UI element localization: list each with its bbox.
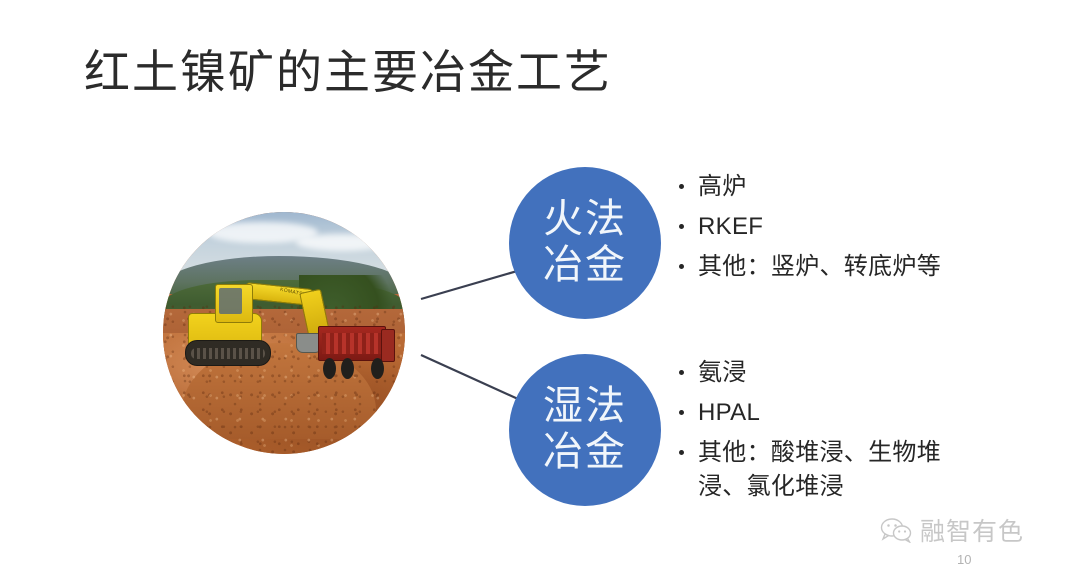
list-item: HPAL <box>676 396 976 430</box>
node-label-line2: 冶金 <box>543 430 627 476</box>
dump-truck-icon <box>318 326 395 379</box>
truck-bed <box>318 326 387 361</box>
page-number: 10 <box>957 552 971 567</box>
truck-wheel <box>341 358 354 379</box>
mining-photo: KOMATSU <box>163 212 405 454</box>
watermark: 融智有色 <box>880 512 1024 548</box>
node-circle-hydrometallurgy[interactable]: 湿法 冶金 <box>509 354 661 506</box>
connector-line-hydro <box>421 355 518 399</box>
list-item: 氨浸 <box>676 356 976 390</box>
watermark-text: 融智有色 <box>920 512 1024 548</box>
bullet-list-hydrometallurgy: 氨浸 HPAL 其他：酸堆浸、生物堆浸、氯化堆浸 <box>676 356 976 510</box>
excavator-brand: KOMATSU <box>280 287 300 292</box>
truck-wheel <box>371 358 384 379</box>
truck-wheel <box>323 358 336 379</box>
node-label-line1: 湿法 <box>543 384 627 430</box>
node-circle-pyrometallurgy[interactable]: 火法 冶金 <box>509 167 661 319</box>
excavator-icon: KOMATSU <box>185 280 335 372</box>
bullet-list-pyrometallurgy: 高炉 RKEF 其他：竖炉、转底炉等 <box>676 170 966 290</box>
slide-canvas: 红土镍矿的主要冶金工艺 KOMATSU <box>0 0 1080 585</box>
excavator-window <box>219 288 242 314</box>
truck-cab <box>381 329 395 362</box>
photo-inner: KOMATSU <box>163 212 405 454</box>
list-item: 其他：酸堆浸、生物堆浸、氯化堆浸 <box>676 436 976 504</box>
list-item: 高炉 <box>676 170 966 204</box>
excavator-track <box>185 340 271 366</box>
list-item: RKEF <box>676 210 966 244</box>
photo-cloud <box>296 234 388 251</box>
wechat-icon <box>880 517 912 543</box>
page-title: 红土镍矿的主要冶金工艺 <box>84 44 612 102</box>
node-label-line1: 火法 <box>543 197 627 243</box>
list-item: 其他：竖炉、转底炉等 <box>676 250 966 284</box>
node-label-line2: 冶金 <box>543 243 627 289</box>
